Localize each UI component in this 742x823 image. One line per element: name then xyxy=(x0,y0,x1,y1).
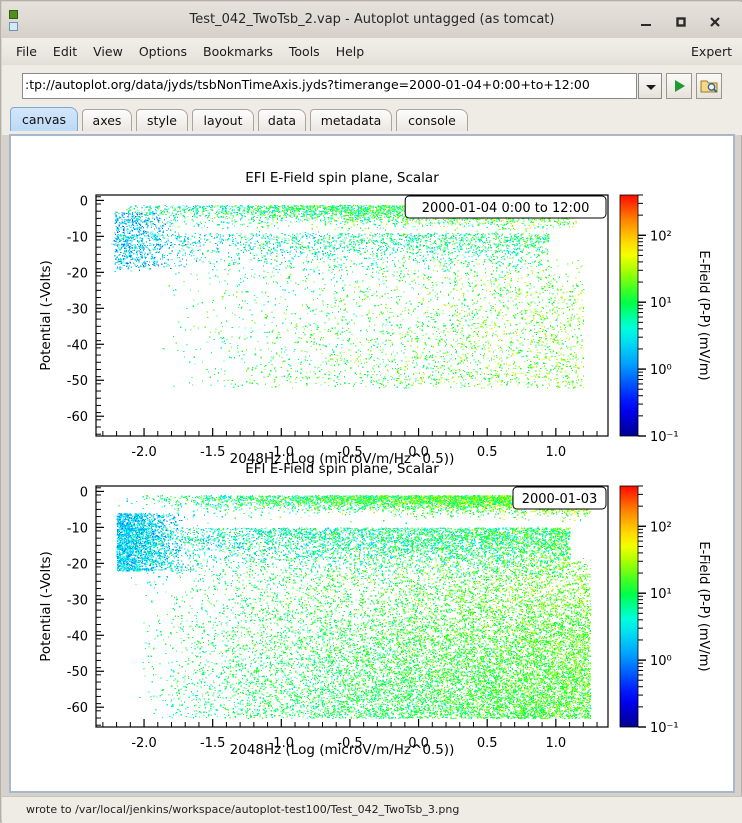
menu-help[interactable]: Help xyxy=(328,41,373,62)
x-axis-label-lower: 2048Hz (Log (microV/m/Hz^0.5)) xyxy=(230,742,455,758)
close-icon[interactable] xyxy=(706,12,724,30)
menu-bookmarks[interactable]: Bookmarks xyxy=(195,41,281,62)
cbtick-label: 10² xyxy=(650,229,672,244)
cbtick-label: 10² xyxy=(650,520,672,535)
led-green-icon xyxy=(9,10,18,19)
ytick-label: -30 xyxy=(67,302,88,317)
go-button[interactable] xyxy=(666,73,692,99)
ytick-label: -50 xyxy=(67,665,88,680)
plot-lower: -2.0-1.5-1.0-0.50.00.51.00-10-20-30-40-5… xyxy=(38,461,711,758)
cbtick-label: 10¹ xyxy=(650,587,672,602)
plot-frame-upper xyxy=(96,195,608,436)
annotation-label-upper: 2000-01-04 0:00 to 12:00 xyxy=(422,201,590,216)
menu-edit[interactable]: Edit xyxy=(45,41,85,62)
xtick-label: -1.5 xyxy=(200,445,225,460)
plot-canvas[interactable]: -2.0-1.5-1.0-0.50.00.51.00-10-20-30-40-5… xyxy=(9,134,735,793)
status-message: wrote to /var/local/jenkins/workspace/au… xyxy=(26,797,459,823)
ytick-label: -50 xyxy=(67,374,88,389)
ytick-label: -10 xyxy=(67,230,88,245)
autoplot-window: Test_042_TwoTsb_2.vap - Autoplot untagge… xyxy=(0,0,742,822)
tab-canvas[interactable]: canvas xyxy=(10,107,78,131)
ytick-label: -30 xyxy=(67,593,88,608)
menu-file[interactable]: File xyxy=(8,41,45,62)
tab-console[interactable]: console xyxy=(396,109,468,131)
title-bar: Test_042_TwoTsb_2.vap - Autoplot untagge… xyxy=(2,2,742,39)
menu-tools[interactable]: Tools xyxy=(281,41,328,62)
cbtick-label: 10¹ xyxy=(650,296,672,311)
plot-title-lower: EFI E-Field spin plane, Scalar xyxy=(245,461,439,477)
ytick-label: -20 xyxy=(67,557,88,572)
menu-bar: File Edit View Options Bookmarks Tools H… xyxy=(2,38,742,66)
ytick-label: -60 xyxy=(67,701,88,716)
tab-data[interactable]: data xyxy=(258,109,306,131)
plot-upper: -2.0-1.5-1.0-0.50.00.51.00-10-20-30-40-5… xyxy=(38,170,711,467)
xtick-label: 1.0 xyxy=(545,445,566,460)
xtick-label: 0.5 xyxy=(477,736,498,751)
uri-dropdown-button[interactable] xyxy=(638,73,662,99)
xtick-label: 1.0 xyxy=(545,736,566,751)
tab-style[interactable]: style xyxy=(136,109,188,131)
xtick-label: 0.5 xyxy=(477,445,498,460)
cbtick-label: 10⁰ xyxy=(650,654,672,669)
xtick-label: -2.0 xyxy=(131,445,156,460)
status-bar: wrote to /var/local/jenkins/workspace/au… xyxy=(2,796,742,823)
colorbar-upper[interactable] xyxy=(620,195,638,436)
scatter-points-lower xyxy=(117,495,592,719)
tab-metadata[interactable]: metadata xyxy=(310,109,392,131)
plot-title-upper: EFI E-Field spin plane, Scalar xyxy=(245,170,439,186)
window-title: Test_042_TwoTsb_2.vap - Autoplot untagge… xyxy=(2,2,742,38)
ytick-label: -40 xyxy=(67,629,88,644)
xtick-label: -1.5 xyxy=(200,736,225,751)
menu-items: File Edit View Options Bookmarks Tools H… xyxy=(8,38,372,65)
cbtick-label: 10⁰ xyxy=(650,363,672,378)
ytick-label: -20 xyxy=(67,266,88,281)
ytick-label: -60 xyxy=(67,410,88,425)
ytick-label: -40 xyxy=(67,338,88,353)
colorbar-lower[interactable] xyxy=(620,486,638,727)
open-file-button[interactable] xyxy=(696,73,722,99)
scatter-points-upper xyxy=(111,205,584,389)
tab-layout[interactable]: layout xyxy=(192,109,254,131)
menu-options[interactable]: Options xyxy=(131,41,195,62)
y-axis-label-upper: Potential (-Volts) xyxy=(38,260,54,371)
xtick-label: -2.0 xyxy=(131,736,156,751)
tab-axes[interactable]: axes xyxy=(82,109,132,131)
plots-svg: -2.0-1.5-1.0-0.50.00.51.00-10-20-30-40-5… xyxy=(11,136,733,791)
folder-search-icon xyxy=(699,76,719,96)
maximize-icon[interactable] xyxy=(672,12,690,30)
play-icon xyxy=(675,80,685,92)
y-axis-label-lower: Potential (-Volts) xyxy=(38,551,54,662)
colorbar-label-upper: E-Field (P-P) (mV/m) xyxy=(696,250,711,380)
cbtick-label: 10⁻¹ xyxy=(650,430,679,445)
colorbar-label-lower: E-Field (P-P) (mV/m) xyxy=(696,541,711,671)
expert-mode-label[interactable]: Expert xyxy=(691,38,732,65)
menu-view[interactable]: View xyxy=(85,41,131,62)
annotation-label-lower: 2000-01-03 xyxy=(522,492,598,507)
uri-input[interactable]: :tp://autoplot.org/data/jyds/tsbNonTimeA… xyxy=(22,73,637,99)
status-leds xyxy=(9,10,20,32)
ytick-label: 0 xyxy=(80,485,88,500)
ytick-label: -10 xyxy=(67,521,88,536)
led-blue-icon xyxy=(9,22,18,31)
chevron-down-icon xyxy=(646,85,656,90)
cbtick-label: 10⁻¹ xyxy=(650,721,679,736)
ytick-label: 0 xyxy=(80,194,88,209)
tab-bar: canvas axes style layout data metadata c… xyxy=(2,105,742,135)
minimize-icon[interactable] xyxy=(637,12,655,30)
